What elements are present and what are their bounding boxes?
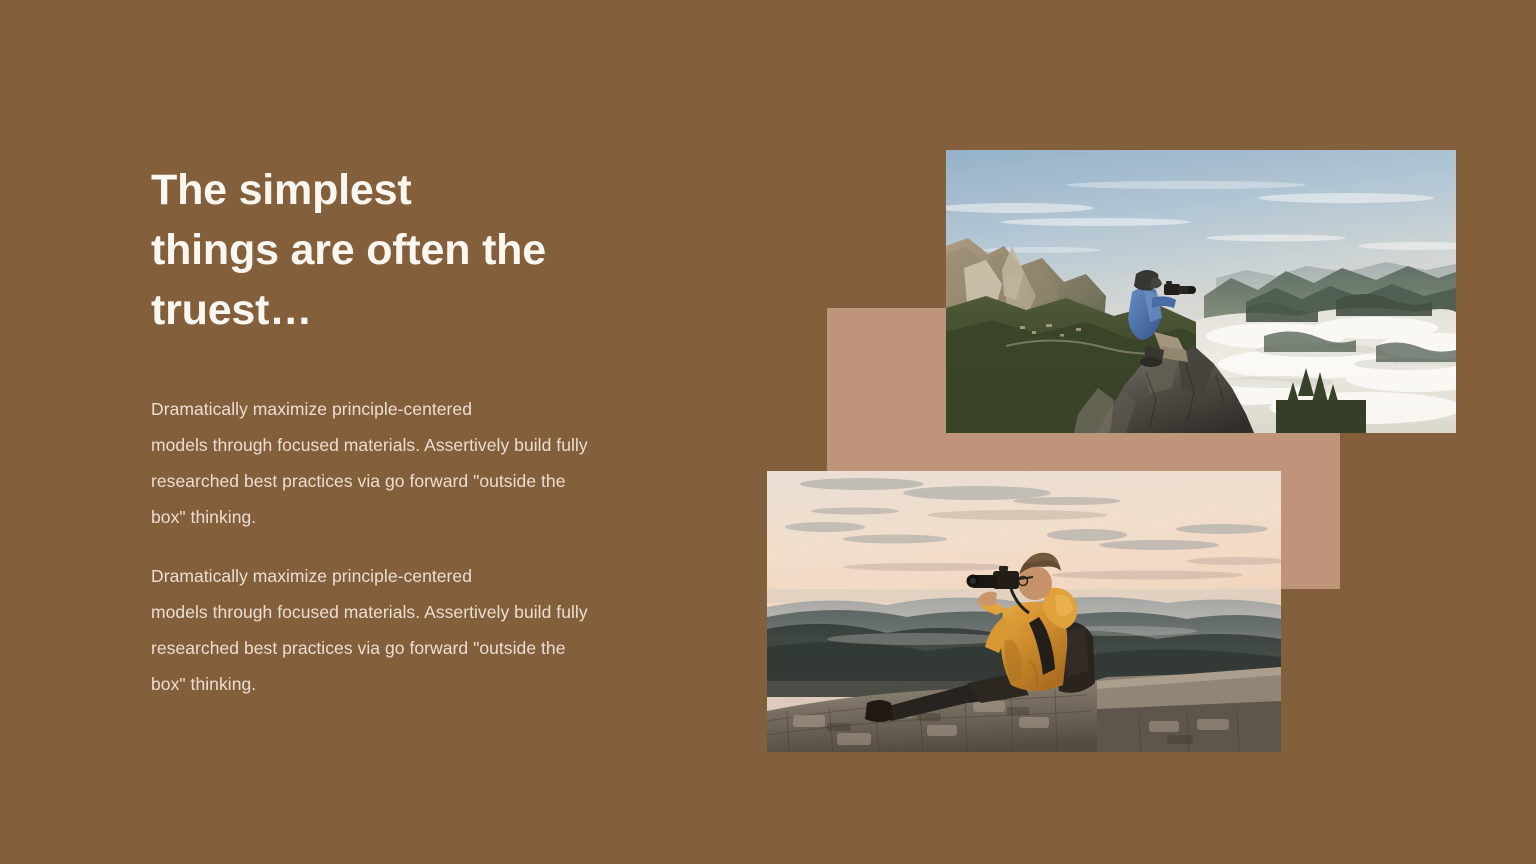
mountain-peak-illustration — [946, 150, 1456, 433]
slide-canvas: The simplest things are often the truest… — [0, 0, 1536, 864]
page-title: The simplest things are often the truest… — [151, 160, 711, 340]
text-column: The simplest things are often the truest… — [151, 160, 711, 702]
body-copy: Dramatically maximize principle-centered… — [151, 391, 711, 702]
body-paragraph-1: Dramatically maximize principle-centered… — [151, 391, 711, 535]
image-photographer-on-stone-wall-at-sunset — [767, 471, 1281, 752]
sunset-stone-wall-illustration — [767, 471, 1281, 752]
image-photographer-on-mountain-peak-above-clouds — [946, 150, 1456, 433]
body-paragraph-2: Dramatically maximize principle-centered… — [151, 558, 711, 702]
